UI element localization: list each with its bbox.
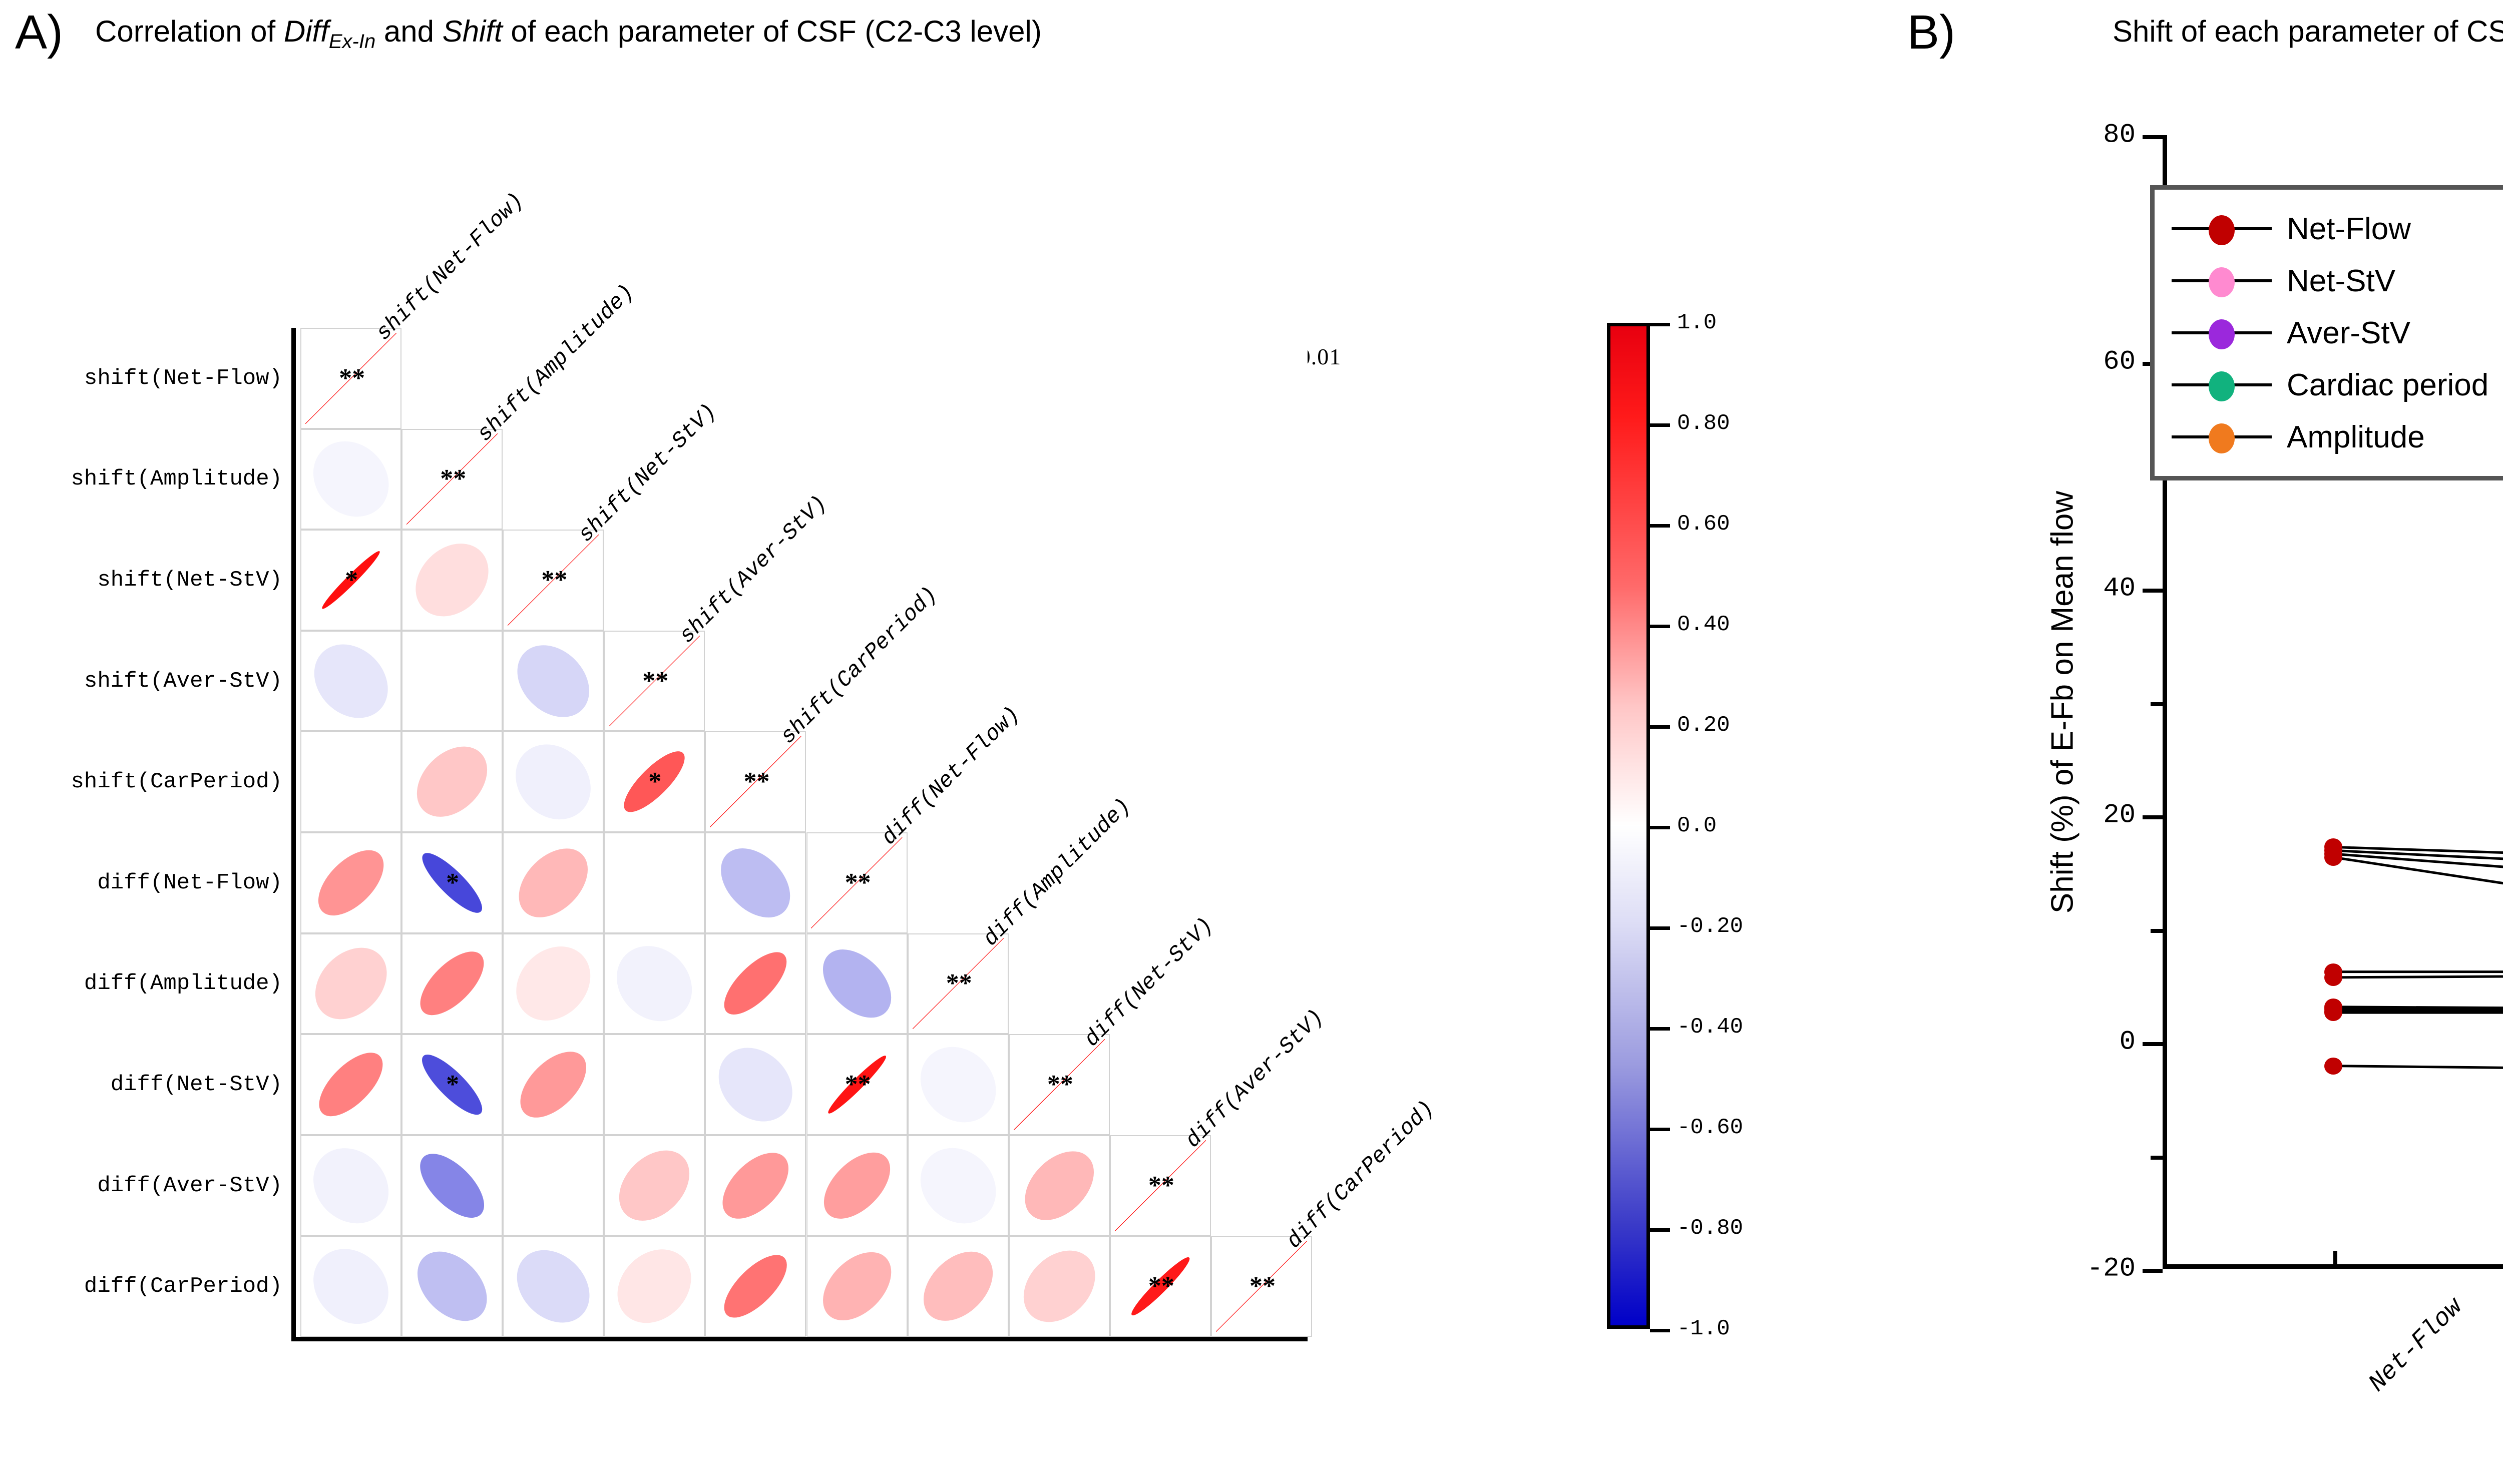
matrix-cell <box>503 1236 604 1337</box>
matrix-cell <box>300 933 401 1035</box>
significance-marker: ** <box>744 769 770 795</box>
y-tick-minor <box>2151 929 2163 933</box>
correlation-ellipse <box>810 937 904 1031</box>
legend-row: Cardiac period <box>2155 359 2503 411</box>
matrix-cell <box>705 1135 806 1236</box>
legend-marker <box>2209 267 2235 297</box>
y-tick-major <box>2143 589 2163 593</box>
matrix-cell <box>806 933 908 1035</box>
legend-row: Net-StV <box>2155 255 2503 307</box>
y-tick-minor <box>2151 1156 2163 1160</box>
y-tick-major <box>2143 135 2163 139</box>
correlation-ellipse <box>299 629 402 732</box>
colorbar-tick-label: -1.0 <box>1677 1316 1730 1341</box>
significance-marker: ** <box>440 466 466 492</box>
correlation-matrix-grid: **************************** <box>296 328 1308 1337</box>
matrix-cell: * <box>401 1034 503 1135</box>
legend-line <box>2172 227 2272 230</box>
y-tick-major <box>2143 1042 2163 1046</box>
significance-marker: ** <box>541 567 567 593</box>
colorbar-tick <box>1650 1027 1670 1031</box>
correlation-ellipse <box>503 631 604 731</box>
correlation-ellipse <box>711 1141 800 1230</box>
legend-label: Cardiac period <box>2287 367 2488 403</box>
data-point <box>2324 969 2342 986</box>
y-tick-label: 40 <box>2103 574 2136 604</box>
colorbar-tick <box>1650 826 1670 829</box>
matrix-row-label: shift(Amplitude) <box>71 466 282 491</box>
legend-label: Net-StV <box>2287 263 2395 299</box>
matrix-cell: * <box>401 832 503 933</box>
significance-marker: * <box>446 1072 459 1098</box>
subject-line <box>2333 452 2503 870</box>
title-mid: and <box>375 15 442 48</box>
x-tick <box>2333 1251 2337 1269</box>
colorbar-tick <box>1650 625 1670 628</box>
y-tick-label: 60 <box>2103 347 2136 377</box>
colorbar-tick <box>1650 524 1670 528</box>
correlation-ellipse <box>403 733 501 831</box>
subject-line <box>2333 541 2503 977</box>
matrix-cell <box>806 1135 908 1236</box>
data-point <box>2324 1058 2342 1075</box>
matrix-row-label: shift(Aver-StV) <box>84 669 282 694</box>
matrix-cell <box>908 1034 1009 1135</box>
y-tick-major <box>2143 815 2163 819</box>
correlation-ellipse <box>503 1236 604 1337</box>
correlation-ellipse <box>401 529 503 631</box>
y-tick-minor <box>2151 702 2163 706</box>
correlation-ellipse <box>409 1143 495 1228</box>
legend-line <box>2172 435 2272 438</box>
colorbar-tick <box>1650 1228 1670 1232</box>
y-tick-label: -20 <box>2087 1254 2136 1284</box>
matrix-cell <box>401 631 503 732</box>
title-prefix: Correlation of <box>95 15 284 48</box>
matrix-column-label: shift(Net-Flow) <box>371 188 529 346</box>
subject-line <box>2333 509 2503 889</box>
colorbar-tick <box>1650 1128 1670 1131</box>
correlation-ellipse <box>298 1234 403 1339</box>
legend-row: Net-Flow <box>2155 203 2503 255</box>
matrix-row-label: shift(CarPeriod) <box>71 769 282 794</box>
correlation-ellipse <box>297 728 405 836</box>
significance-marker: ** <box>1148 1173 1174 1199</box>
data-point <box>2324 1004 2342 1021</box>
significance-marker: ** <box>1249 1273 1276 1299</box>
colorbar-tick-label: -0.80 <box>1677 1216 1743 1241</box>
matrix-row-label: shift(Net-Flow) <box>84 366 282 391</box>
correlation-ellipse <box>398 627 506 735</box>
matrix-cell <box>401 1135 503 1236</box>
matrix-cell <box>604 1236 705 1337</box>
correlation-ellipse <box>301 934 401 1034</box>
matrix-row-label: diff(CarPeriod) <box>84 1274 282 1299</box>
panel-a-correlation-matrix: A) Correlation of DiffEx-In and Shift of… <box>0 0 1877 1484</box>
matrix-cell: * <box>604 731 705 832</box>
correlation-ellipse <box>309 1042 393 1127</box>
matrix-cell <box>300 631 401 732</box>
matrix-cell <box>806 1236 908 1337</box>
subject-line <box>2333 560 2503 1009</box>
correlation-ellipse <box>298 1133 403 1238</box>
matrix-cell <box>604 1034 705 1135</box>
colorbar-legend: 1.00.800.600.400.200.0-0.20-0.40-0.60-0.… <box>1607 323 1822 1329</box>
correlation-ellipse <box>509 1040 598 1129</box>
matrix-cell <box>300 1034 401 1135</box>
title-diff: Diff <box>284 15 329 48</box>
correlation-ellipse <box>307 839 395 927</box>
colorbar-tick <box>1650 423 1670 427</box>
matrix-cell: * <box>300 530 401 631</box>
y-tick-label: 80 <box>2103 120 2136 151</box>
correlation-ellipse <box>1009 1237 1109 1336</box>
colorbar-tick-label: -0.20 <box>1677 914 1743 939</box>
title-subscript: Ex-In <box>329 31 375 53</box>
matrix-cell <box>503 1034 604 1135</box>
colorbar-tick <box>1650 725 1670 729</box>
matrix-row-label: diff(Aver-StV) <box>97 1173 282 1198</box>
matrix-cell <box>503 933 604 1035</box>
panel-a-letter: A) <box>15 5 63 60</box>
matrix-cell <box>300 1236 401 1337</box>
title-suffix: of each parameter of CSF (C2-C3 level) <box>503 15 1042 48</box>
significance-marker: * <box>648 769 661 795</box>
correlation-ellipse <box>410 941 495 1026</box>
matrix-cell <box>604 832 705 933</box>
colorbar-tick-label: -0.60 <box>1677 1115 1743 1140</box>
correlation-ellipse <box>603 1235 706 1338</box>
correlation-ellipse <box>905 1032 1011 1138</box>
correlation-ellipse <box>502 932 605 1036</box>
correlation-ellipse <box>404 1238 500 1334</box>
colorbar-tick-label: 0.80 <box>1677 411 1730 436</box>
matrix-cell <box>300 1135 401 1236</box>
title-shift: Shift <box>443 15 503 48</box>
matrix-cell <box>908 1236 1009 1337</box>
significance-marker: ** <box>845 870 871 896</box>
matrix-cell <box>401 731 503 832</box>
colorbar-tick-label: 1.0 <box>1677 310 1717 335</box>
legend-line <box>2172 279 2272 282</box>
subject-line <box>2333 546 2503 1008</box>
matrix-cell <box>503 631 604 732</box>
colorbar-tick-label: 0.60 <box>1677 512 1730 537</box>
matrix-cell <box>705 1236 806 1337</box>
matrix-cell <box>503 1135 604 1236</box>
matrix-row-label: shift(Net-StV) <box>97 568 282 593</box>
legend-marker <box>2209 371 2235 401</box>
significance-marker: * <box>345 567 358 593</box>
correlation-ellipse <box>810 1239 904 1333</box>
significance-marker: ** <box>642 668 668 694</box>
correlation-ellipse <box>910 1238 1006 1334</box>
correlation-ellipse <box>298 426 404 532</box>
panel-b-letter: B) <box>1907 5 1955 60</box>
correlation-ellipse <box>499 1132 607 1240</box>
matrix-cell <box>705 933 806 1035</box>
correlation-ellipse <box>905 1133 1011 1239</box>
matrix-row-label: diff(Amplitude) <box>84 971 282 996</box>
correlation-ellipse <box>708 835 803 930</box>
colorbar-tick-label: 0.0 <box>1677 813 1717 838</box>
x-tick-label: Net-Flow <box>2363 1293 2468 1398</box>
correlation-ellipse <box>704 1033 807 1136</box>
y-tick-label: 0 <box>2120 1027 2136 1058</box>
correlation-ellipse <box>714 1245 796 1327</box>
correlation-ellipse <box>606 1137 703 1234</box>
matrix-row-label: diff(Net-Flow) <box>97 870 282 895</box>
significance-marker: * <box>446 870 459 896</box>
matrix-cell <box>1009 1236 1110 1337</box>
correlation-ellipse <box>600 829 708 937</box>
y-axis-title: Shift (%) of E-Fb on Mean flow <box>2045 490 2080 913</box>
correlation-ellipse <box>506 835 601 930</box>
correlation-ellipse <box>600 1031 708 1139</box>
legend-row: Amplitude <box>2155 411 2503 463</box>
matrix-cell <box>705 1034 806 1135</box>
legend-row: Aver-StV <box>2155 307 2503 359</box>
legend-label: Amplitude <box>2287 419 2425 455</box>
y-tick-label: 20 <box>2103 800 2136 831</box>
significance-marker: ** <box>1047 1072 1073 1098</box>
matrix-cell <box>908 1135 1009 1236</box>
subject-line <box>2333 555 2503 1012</box>
correlation-ellipse <box>1012 1138 1107 1233</box>
legend-line <box>2172 383 2272 386</box>
legend-label: Net-Flow <box>2287 211 2411 247</box>
matrix-cell: ** <box>806 1034 908 1135</box>
matrix-cell <box>401 933 503 1035</box>
colorbar-tick-label: 0.20 <box>1677 713 1730 738</box>
colorbar-tick <box>1650 1329 1670 1332</box>
colorbar-tick <box>1650 926 1670 930</box>
subject-line <box>2333 526 2503 971</box>
colorbar-tick-label: 0.40 <box>1677 612 1730 637</box>
legend-line <box>2172 331 2272 334</box>
matrix-cell: ** <box>1110 1236 1211 1337</box>
matrix-cell <box>401 530 503 631</box>
matrix-cell <box>604 933 705 1035</box>
series-legend: Net-FlowNet-StVAver-StVCardiac periodAmp… <box>2150 185 2503 480</box>
data-point <box>2324 842 2342 859</box>
colorbar-gradient <box>1607 323 1650 1329</box>
y-tick-major <box>2143 1269 2163 1273</box>
matrix-cell <box>503 832 604 933</box>
significance-marker: ** <box>1148 1273 1174 1299</box>
matrix-cell <box>300 731 401 832</box>
matrix-cell <box>604 1135 705 1236</box>
legend-marker <box>2209 319 2235 349</box>
correlation-matrix-frame: **************************** <box>291 328 1308 1341</box>
matrix-cell <box>300 429 401 530</box>
matrix-cell <box>1009 1135 1110 1236</box>
panel-a-title: Correlation of DiffEx-In and Shift of ea… <box>95 14 1042 53</box>
matrix-cell <box>503 731 604 832</box>
legend-marker <box>2209 215 2235 245</box>
shift-plot-area: Shift (%) of E-Fb on Mean flow 806040200… <box>2072 135 2503 1269</box>
colorbar-tick <box>1650 323 1670 326</box>
subject-line <box>2333 566 2503 1013</box>
colorbar-tick-label: -0.40 <box>1677 1015 1743 1040</box>
correlation-ellipse <box>811 1140 902 1230</box>
correlation-ellipse <box>715 943 796 1025</box>
correlation-ellipse <box>501 729 606 834</box>
panel-b-title: Shift of each parameter of CSF at C2-C3 … <box>2113 14 2503 49</box>
significance-marker: ** <box>339 365 365 391</box>
matrix-cell <box>300 832 401 933</box>
matrix-row-label: diff(Net-StV) <box>111 1072 282 1097</box>
legend-label: Aver-StV <box>2287 315 2410 351</box>
legend-marker <box>2209 423 2235 453</box>
matrix-cell <box>705 832 806 933</box>
correlation-ellipse <box>602 931 707 1037</box>
matrix-cell <box>401 1236 503 1337</box>
panel-b-shift-plot: B) Shift of each parameter of CSF at C2-… <box>1877 0 2503 1484</box>
significance-marker: ** <box>845 1072 871 1098</box>
significance-marker: ** <box>946 970 972 997</box>
